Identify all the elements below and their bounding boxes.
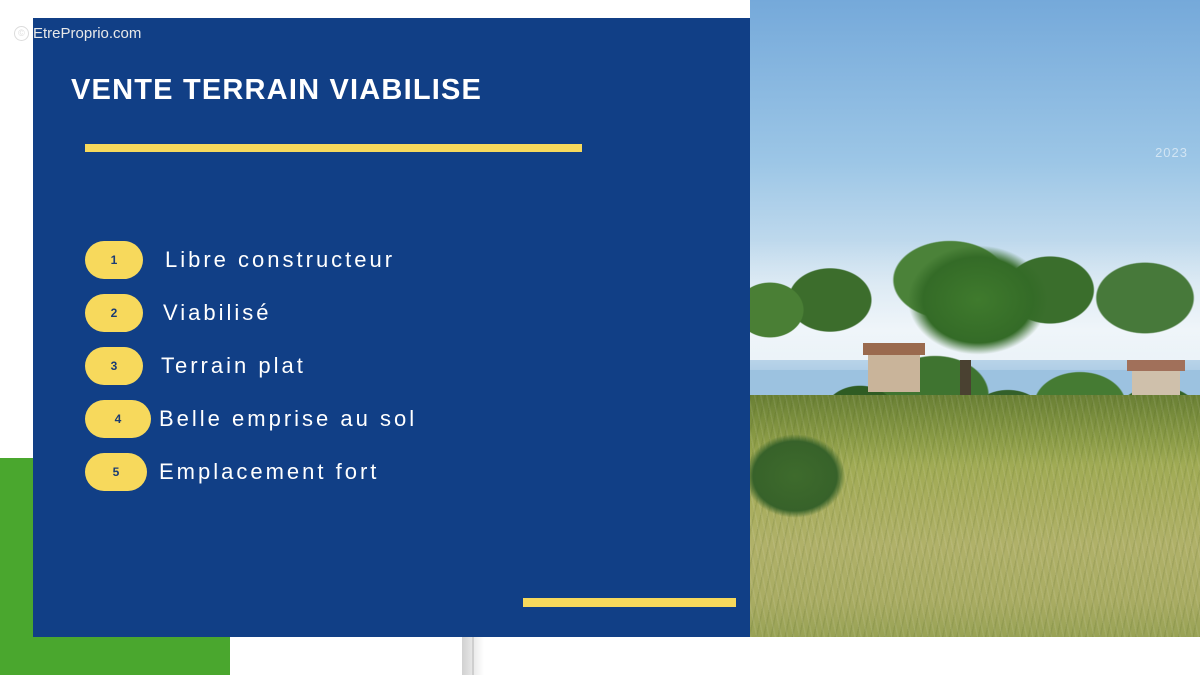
list-item: 5 Emplacement fort [85,445,725,498]
list-item: 3 Terrain plat [85,339,725,392]
site-watermark-label: EtreProprio.com [33,25,141,42]
terrain-photo: 2023 [750,0,1200,637]
bottom-right-strip [750,637,1200,675]
bottom-strip-edge [472,637,474,675]
slide-canvas: 2023 VENTE TERRAIN VIABILISE 1 Libre con… [0,0,1200,675]
building-right-roof [1127,360,1185,371]
bottom-accent-rule [523,598,736,607]
list-item-badge: 1 [85,241,143,279]
list-item-badge: 3 [85,347,143,385]
list-item-label: Libre constructeur [165,247,395,273]
site-watermark: © EtreProprio.com [14,25,141,42]
bush-left [750,418,870,538]
blue-panel: VENTE TERRAIN VIABILISE 1 Libre construc… [33,18,750,637]
bottom-strip [230,637,750,675]
page-title: VENTE TERRAIN VIABILISE [71,74,482,107]
list-item-label: Belle emprise au sol [159,406,417,432]
list-item-label: Viabilisé [163,300,272,326]
title-underline-rule [85,144,582,152]
list-item: 4 Belle emprise au sol [85,392,725,445]
feature-list: 1 Libre constructeur 2 Viabilisé 3 Terra… [85,233,725,498]
list-item: 1 Libre constructeur [85,233,725,286]
list-item: 2 Viabilisé [85,286,725,339]
photo-date-watermark: 2023 [1155,145,1188,160]
list-item-label: Terrain plat [161,353,306,379]
foreground-tree [878,228,1078,418]
list-item-label: Emplacement fort [159,459,379,485]
list-item-badge: 5 [85,453,147,491]
copyright-icon: © [14,26,29,41]
list-item-badge: 2 [85,294,143,332]
list-item-badge: 4 [85,400,151,438]
